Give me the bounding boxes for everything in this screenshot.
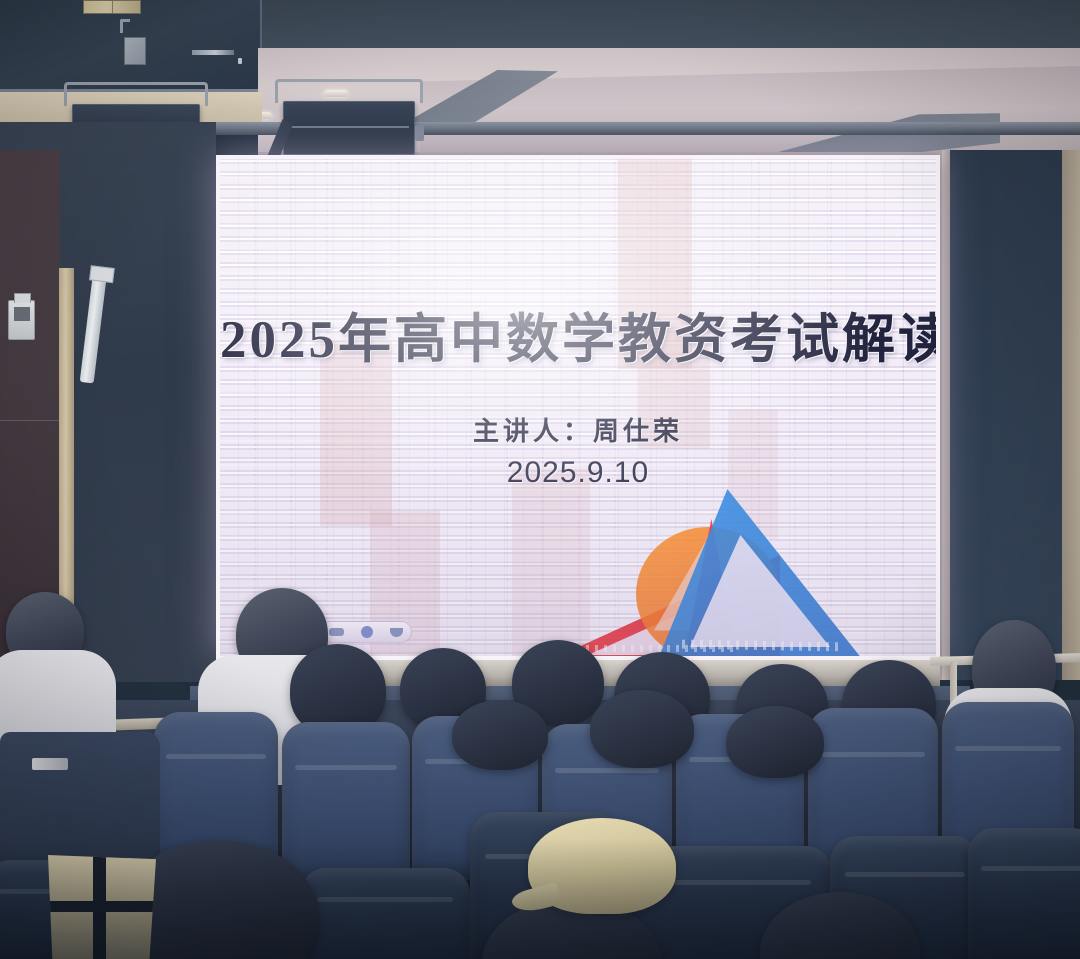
auditorium-seat[interactable] <box>282 722 410 888</box>
stage-light-right <box>283 93 415 147</box>
ceiling-sensor-icon <box>238 58 242 64</box>
set-square-graphic <box>550 489 870 660</box>
projection-screen[interactable]: 2025年高中数学教资考试解读 主讲人：周仕荣 2025.9.10 <box>216 155 940 660</box>
wall-right-panel <box>938 150 1080 680</box>
slide-presenter-line: 主讲人：周仕荣 <box>220 411 936 448</box>
floor-marker <box>48 855 156 959</box>
wall-camera-icon <box>8 300 35 340</box>
auditorium-seat[interactable] <box>300 868 470 959</box>
audience-head <box>726 706 824 778</box>
stage-light-yoke <box>275 79 423 103</box>
audience-cap <box>528 818 676 914</box>
slide-date: 2025.9.10 <box>220 456 936 490</box>
audience-head <box>452 700 548 770</box>
ceiling-dark-panel <box>0 0 262 92</box>
panel-button-icon[interactable] <box>329 628 344 636</box>
stage-light-yoke <box>64 82 208 106</box>
ceiling-bracket-icon <box>120 19 130 33</box>
wall-right-edge <box>1062 150 1080 680</box>
red-ruler-scale-marks <box>568 645 738 652</box>
audience-head <box>590 690 694 768</box>
panel-power-icon[interactable] <box>361 626 373 638</box>
wall-seam-line <box>0 420 60 421</box>
auditorium-seat[interactable] <box>968 828 1080 959</box>
lecture-hall-scene: 2025年高中数学教资考试解读 主讲人：周仕荣 2025.9.10 <box>0 0 1080 959</box>
ceiling-vent-icon <box>83 0 141 14</box>
slide-title: 2025年高中数学教资考试解读 <box>220 297 936 373</box>
ceiling-plate-icon <box>124 37 146 65</box>
wall-right-trim <box>942 150 950 680</box>
stage-light-knob <box>415 125 424 141</box>
panel-arc-icon[interactable] <box>390 628 403 637</box>
chair-label-icon <box>32 758 68 770</box>
stage-light-body <box>283 101 415 155</box>
ceiling-label-strip <box>192 50 234 55</box>
screen-control-panel[interactable] <box>320 621 412 643</box>
